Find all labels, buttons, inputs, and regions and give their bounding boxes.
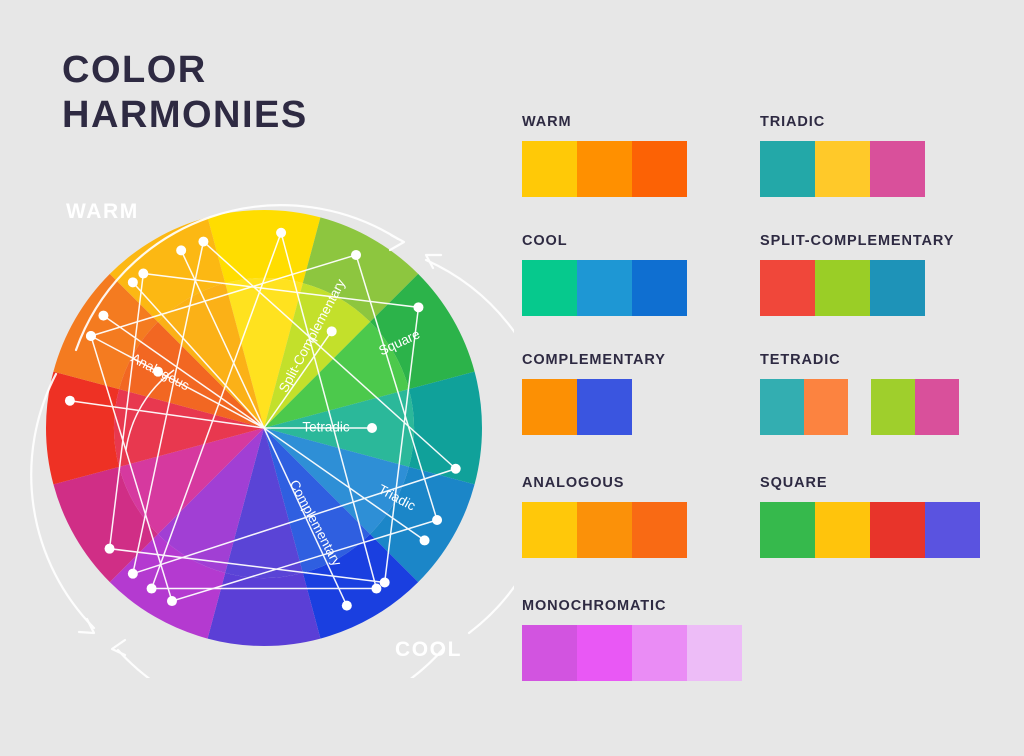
color-swatch[interactable] — [871, 379, 915, 435]
color-swatch[interactable] — [870, 502, 925, 558]
color-swatch[interactable] — [577, 625, 632, 681]
color-swatch[interactable] — [815, 502, 870, 558]
harmony-point — [451, 464, 461, 474]
color-swatch[interactable] — [632, 502, 687, 558]
swatch-block — [760, 502, 980, 558]
palette-title-tetradic: TETRADIC — [760, 352, 959, 368]
color-swatch[interactable] — [804, 379, 848, 435]
color-swatch[interactable] — [870, 141, 925, 197]
harmony-point — [351, 250, 361, 260]
swatch-block — [760, 141, 925, 197]
palette-title-cool: COOL — [522, 233, 687, 249]
palette-title-triadic: TRIADIC — [760, 114, 925, 130]
color-swatch[interactable] — [522, 625, 577, 681]
harmony-point — [86, 331, 96, 341]
color-swatch[interactable] — [870, 260, 925, 316]
color-swatch[interactable] — [632, 260, 687, 316]
palette-title-split-complementary: SPLIT-COMPLEMENTARY — [760, 233, 954, 249]
harmony-point — [371, 584, 381, 594]
swatch-block — [871, 379, 959, 435]
palette-monochromatic: MONOCHROMATIC — [522, 598, 742, 681]
palette-title-monochromatic: MONOCHROMATIC — [522, 598, 742, 614]
palette-title-analogous: ANALOGOUS — [522, 475, 687, 491]
palette-cool: COOL — [522, 233, 687, 316]
harmony-point — [198, 237, 208, 247]
color-swatch[interactable] — [577, 502, 632, 558]
palette-square: SQUARE — [760, 475, 980, 558]
palette-analogous: ANALOGOUS — [522, 475, 687, 558]
harmony-point — [147, 584, 157, 594]
harmony-point — [138, 269, 148, 279]
swatch-row-square — [760, 502, 980, 558]
swatch-block — [522, 502, 687, 558]
harmony-point — [432, 515, 442, 525]
wheel-label-cool: COOL — [395, 638, 462, 661]
wheel-sector-outer — [409, 372, 482, 485]
palette-tetradic: TETRADIC — [760, 352, 959, 435]
swatch-block — [522, 625, 742, 681]
swatch-row-tetradic — [760, 379, 959, 435]
color-swatch[interactable] — [760, 502, 815, 558]
palette-list: WARMCOOLCOMPLEMENTARYANALOGOUSMONOCHROMA… — [512, 100, 1012, 720]
color-swatch[interactable] — [632, 141, 687, 197]
swatch-row-split-complementary — [760, 260, 954, 316]
color-swatch[interactable] — [522, 502, 577, 558]
harmony-point — [98, 311, 108, 321]
color-wheel-svg: WARM COOL AnalogousSplit-ComplementarySq… — [14, 178, 514, 678]
page-title: COLOR HARMONIES — [62, 48, 308, 138]
harmony-point — [413, 302, 423, 312]
palette-complementary: COMPLEMENTARY — [522, 352, 666, 435]
color-swatch[interactable] — [522, 260, 577, 316]
harmony-point — [420, 535, 430, 545]
palette-title-complementary: COMPLEMENTARY — [522, 352, 666, 368]
palette-warm: WARM — [522, 114, 687, 197]
color-swatch[interactable] — [760, 141, 815, 197]
color-swatch[interactable] — [915, 379, 959, 435]
color-swatch[interactable] — [760, 379, 804, 435]
palette-triadic: TRIADIC — [760, 114, 925, 197]
harmony-point — [367, 423, 377, 433]
wheel-harmony-label: Tetradic — [302, 420, 350, 435]
swatch-block — [522, 379, 632, 435]
swatch-block — [522, 141, 687, 197]
harmony-point — [380, 577, 390, 587]
swatch-row-cool — [522, 260, 687, 316]
color-swatch[interactable] — [815, 141, 870, 197]
swatch-block — [522, 260, 687, 316]
swatch-row-analogous — [522, 502, 687, 558]
harmony-point — [342, 601, 352, 611]
wheel-sector-outer — [208, 573, 321, 646]
harmony-point — [327, 326, 337, 336]
color-swatch[interactable] — [577, 379, 632, 435]
color-swatch[interactable] — [925, 502, 980, 558]
harmony-point — [128, 277, 138, 287]
harmony-point — [105, 544, 115, 554]
palette-title-warm: WARM — [522, 114, 687, 130]
harmony-point — [276, 228, 286, 238]
swatch-block — [760, 260, 925, 316]
swatch-row-monochromatic — [522, 625, 742, 681]
color-swatch[interactable] — [577, 260, 632, 316]
palette-title-square: SQUARE — [760, 475, 980, 491]
harmony-point — [65, 396, 75, 406]
harmony-point — [167, 596, 177, 606]
swatch-block — [760, 379, 848, 435]
swatch-row-triadic — [760, 141, 925, 197]
color-swatch[interactable] — [522, 141, 577, 197]
color-swatch[interactable] — [687, 625, 742, 681]
harmony-point — [128, 569, 138, 579]
swatch-row-complementary — [522, 379, 666, 435]
harmony-point — [176, 245, 186, 255]
color-swatch[interactable] — [760, 260, 815, 316]
palette-split-complementary: SPLIT-COMPLEMENTARY — [760, 233, 954, 316]
color-swatch[interactable] — [632, 625, 687, 681]
swatch-row-warm — [522, 141, 687, 197]
wheel-sector-outer — [208, 210, 321, 283]
color-swatch[interactable] — [577, 141, 632, 197]
color-wheel-panel: WARM COOL AnalogousSplit-ComplementarySq… — [14, 178, 514, 678]
wheel-sector-outer — [46, 372, 119, 485]
wheel-label-warm: WARM — [66, 200, 139, 223]
color-swatch[interactable] — [522, 379, 577, 435]
color-swatch[interactable] — [815, 260, 870, 316]
